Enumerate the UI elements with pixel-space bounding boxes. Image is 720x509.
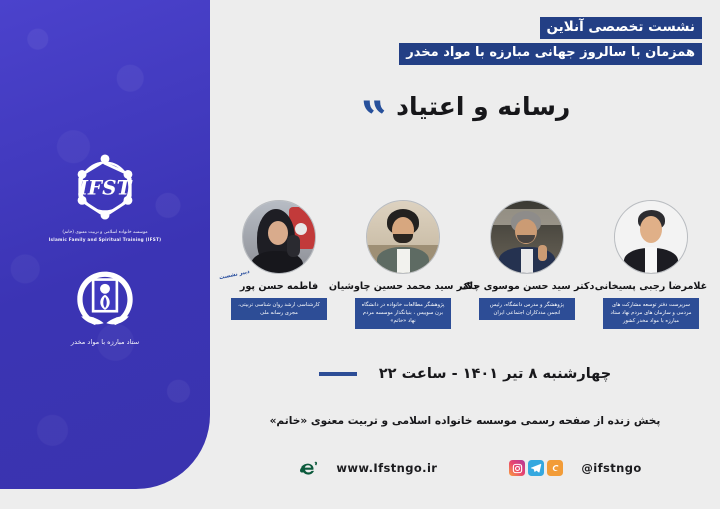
speaker-card: دبیر نشست فاطمه حسن پور کارشناسی ارشد رو… xyxy=(225,200,333,329)
social-icons-group xyxy=(509,460,563,476)
speaker-name: دکتر سید محمد حسین چاوشیان xyxy=(329,281,477,293)
event-datetime: چهارشنبه ۸ تیر ۱۴۰۱ - ساعت ۲۲ xyxy=(379,366,611,382)
schedule-row: چهارشنبه ۸ تیر ۱۴۰۱ - ساعت ۲۲ xyxy=(210,366,720,382)
speaker-name: دکتر سید حسن موسوی چلک xyxy=(460,281,595,293)
anti-narcotics-logo-icon xyxy=(72,269,138,331)
ifst-logo-icon: IFST xyxy=(68,150,142,224)
speaker-role-tag: دبیر نشست xyxy=(219,269,251,281)
ifst-caption-en: Islamic Family and Spiritual Training (I… xyxy=(49,237,162,244)
content-area: نشست تخصصی آنلاین همزمان با سالروز جهانی… xyxy=(210,0,720,509)
anti-narcotics-caption: ستاد مبارزه با مواد مخدر xyxy=(71,338,139,346)
speaker-name: غلامرضا رجبی پسیخانی xyxy=(595,281,707,293)
telegram-icon[interactable] xyxy=(528,460,544,476)
speaker-credential: سرپرست دفتر توسعه مشارکت های مردمی و ساز… xyxy=(603,298,699,329)
avatar xyxy=(614,200,688,274)
speakers-list: دبیر نشست فاطمه حسن پور کارشناسی ارشد رو… xyxy=(222,200,708,329)
speaker-name: فاطمه حسن پور xyxy=(240,281,318,293)
page-title: رسانه و اعتیاد xyxy=(396,92,570,121)
website-url[interactable]: www.Ifstngo.ir xyxy=(336,461,437,475)
header-banner: نشست تخصصی آنلاین همزمان با سالروز جهانی… xyxy=(399,16,702,65)
speaker-credential: پژوهشگر مطالعات خانواده در دانشگاه برن س… xyxy=(355,298,451,329)
avatar xyxy=(366,200,440,274)
divider-dash xyxy=(319,372,357,376)
ifst-caption-fa: موسسه خانواده اسلامی و تربیت معنوی (خاتم… xyxy=(62,230,147,237)
speaker-card: دکتر سید محمد حسین چاوشیان پژوهشگر مطالع… xyxy=(349,200,457,329)
svg-text:IFST: IFST xyxy=(78,175,134,199)
footer-bar: @ifstngo xyxy=(210,458,720,478)
quote-mark-icon: ” xyxy=(360,105,386,133)
avatar xyxy=(242,200,316,274)
speaker-credential: پژوهشگر و مدرس دانشگاه، رئیس انجمن مددکا… xyxy=(479,298,575,321)
speaker-credential: کارشناسی ارشد روان شناسی تربیتی، مجری رس… xyxy=(231,298,327,321)
speaker-card: دکتر سید حسن موسوی چلک پژوهشگر و مدرس دا… xyxy=(473,200,581,329)
instagram-icon[interactable] xyxy=(509,460,525,476)
speaker-card: غلامرضا رجبی پسیخانی سرپرست دفتر توسعه م… xyxy=(597,200,705,329)
internet-explorer-icon[interactable] xyxy=(298,458,318,478)
header-line-2: همزمان با سالروز جهانی مبارزه با مواد مخ… xyxy=(399,43,702,65)
social-handle[interactable]: @ifstngo xyxy=(581,461,641,475)
title-row: رسانه و اعتیاد ” xyxy=(210,92,720,121)
sidebar-panel: IFST موسسه خانواده اسلامی و تربیت معنوی … xyxy=(0,0,210,489)
header-line-1: نشست تخصصی آنلاین xyxy=(540,17,702,39)
avatar xyxy=(490,200,564,274)
eitaa-icon[interactable] xyxy=(547,460,563,476)
sidebar-logos: IFST موسسه خانواده اسلامی و تربیت معنوی … xyxy=(0,150,210,346)
broadcast-note: پخش زنده از صفحه رسمی موسسه خانواده اسلا… xyxy=(210,415,720,427)
event-poster: IFST موسسه خانواده اسلامی و تربیت معنوی … xyxy=(0,0,720,509)
